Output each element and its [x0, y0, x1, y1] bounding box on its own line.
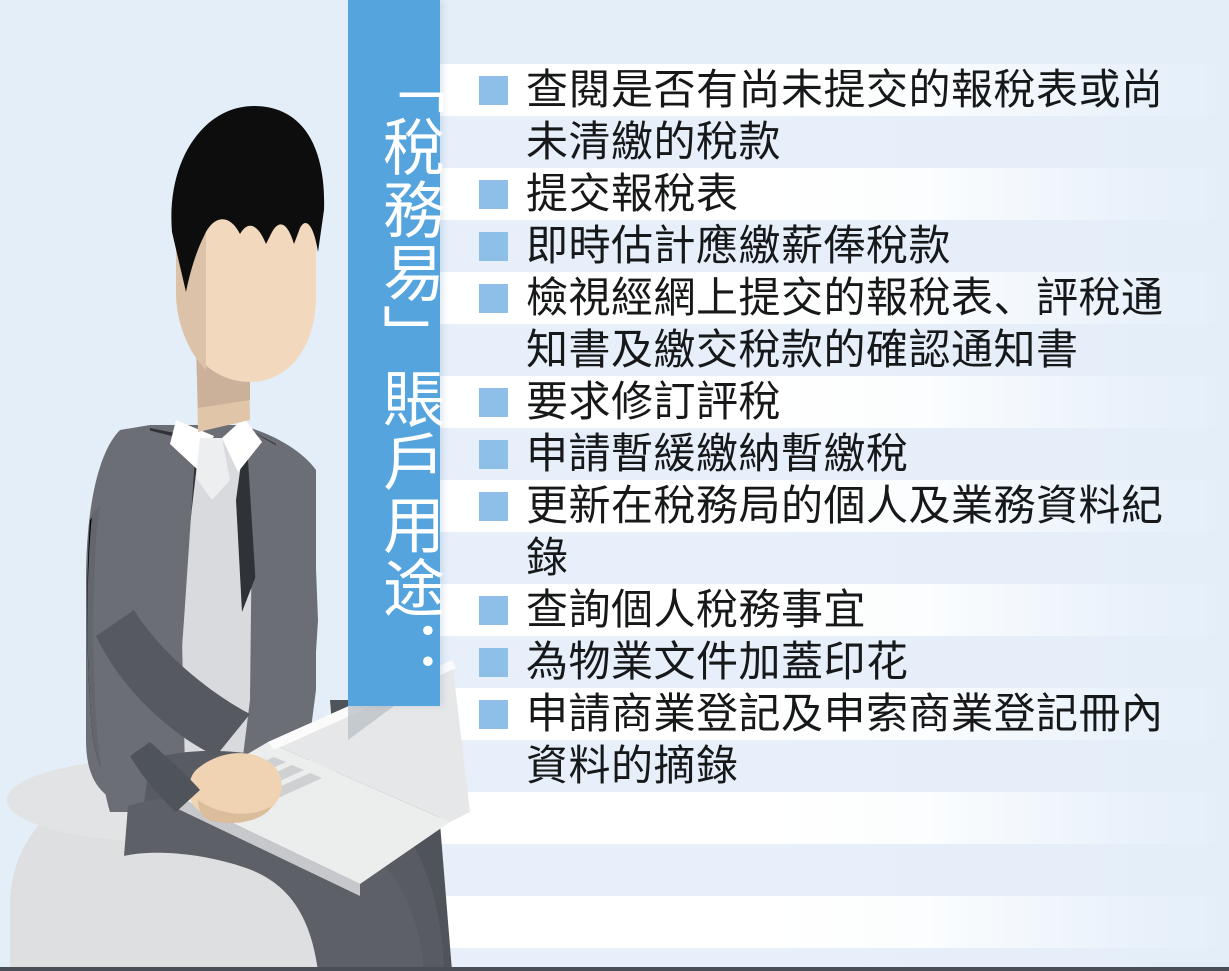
usage-list: 查閱是否有尚未提交的報稅表或尚未清繳的稅款提交報稅表即時估計應繳薪俸稅款檢視經網…: [470, 64, 1170, 792]
bullet-square-icon: [479, 440, 508, 469]
list-item-label: 要求修訂評稅: [526, 377, 781, 426]
list-item-label: 申請商業登記及申索商業登記冊內資料的摘錄: [526, 689, 1164, 790]
list-item: 申請商業登記及申索商業登記冊內資料的摘錄: [470, 688, 1170, 792]
bullet-square-icon: [479, 648, 508, 677]
stripe-band: [440, 792, 1229, 844]
list-item-label: 更新在稅務局的個人及業務資料紀錄: [526, 481, 1164, 582]
bullet-square-icon: [479, 700, 508, 729]
bullet-square-icon: [479, 492, 508, 521]
list-item: 更新在稅務局的個人及業務資料紀錄: [470, 480, 1170, 584]
list-item-label: 查閱是否有尚未提交的報稅表或尚未清繳的稅款: [526, 65, 1164, 166]
bottom-divider: [0, 967, 1229, 971]
list-item-label: 申請暫緩繳納暫繳稅: [526, 429, 909, 478]
list-item: 申請暫緩繳納暫繳稅: [470, 428, 1170, 480]
list-item-label: 為物業文件加蓋印花: [526, 637, 909, 686]
list-item: 查閱是否有尚未提交的報稅表或尚未清繳的稅款: [470, 64, 1170, 168]
bullet-square-icon: [479, 232, 508, 261]
list-item: 提交報稅表: [470, 168, 1170, 220]
list-item: 檢視經網上提交的報稅表、評稅通知書及繳交稅款的確認通知書: [470, 272, 1170, 376]
list-item: 即時估計應繳薪俸稅款: [470, 220, 1170, 272]
list-item-label: 查詢個人稅務事宜: [526, 585, 866, 634]
list-item-label: 即時估計應繳薪俸稅款: [526, 221, 951, 270]
infographic-poster: 「稅務易」賬戶用途： 查閱是否有尚未提交的報稅表或尚未清繳的稅款提交報稅表即時估…: [0, 0, 1229, 971]
list-item: 為物業文件加蓋印花: [470, 636, 1170, 688]
stripe-band: [440, 844, 1229, 896]
poster-title: 「稅務易」賬戶用途：: [348, 52, 440, 682]
list-item-label: 提交報稅表: [526, 169, 739, 218]
bullet-square-icon: [479, 596, 508, 625]
stripe-band: [440, 896, 1229, 948]
title-banner: 「稅務易」賬戶用途：: [348, 0, 440, 706]
list-item-label: 檢視經網上提交的報稅表、評稅通知書及繳交稅款的確認通知書: [526, 273, 1164, 374]
banner-fold-shadow: [348, 706, 440, 740]
bullet-square-icon: [479, 284, 508, 313]
bullet-square-icon: [479, 180, 508, 209]
list-item: 要求修訂評稅: [470, 376, 1170, 428]
bullet-square-icon: [479, 388, 508, 417]
list-item: 查詢個人稅務事宜: [470, 584, 1170, 636]
bullet-square-icon: [479, 76, 508, 105]
